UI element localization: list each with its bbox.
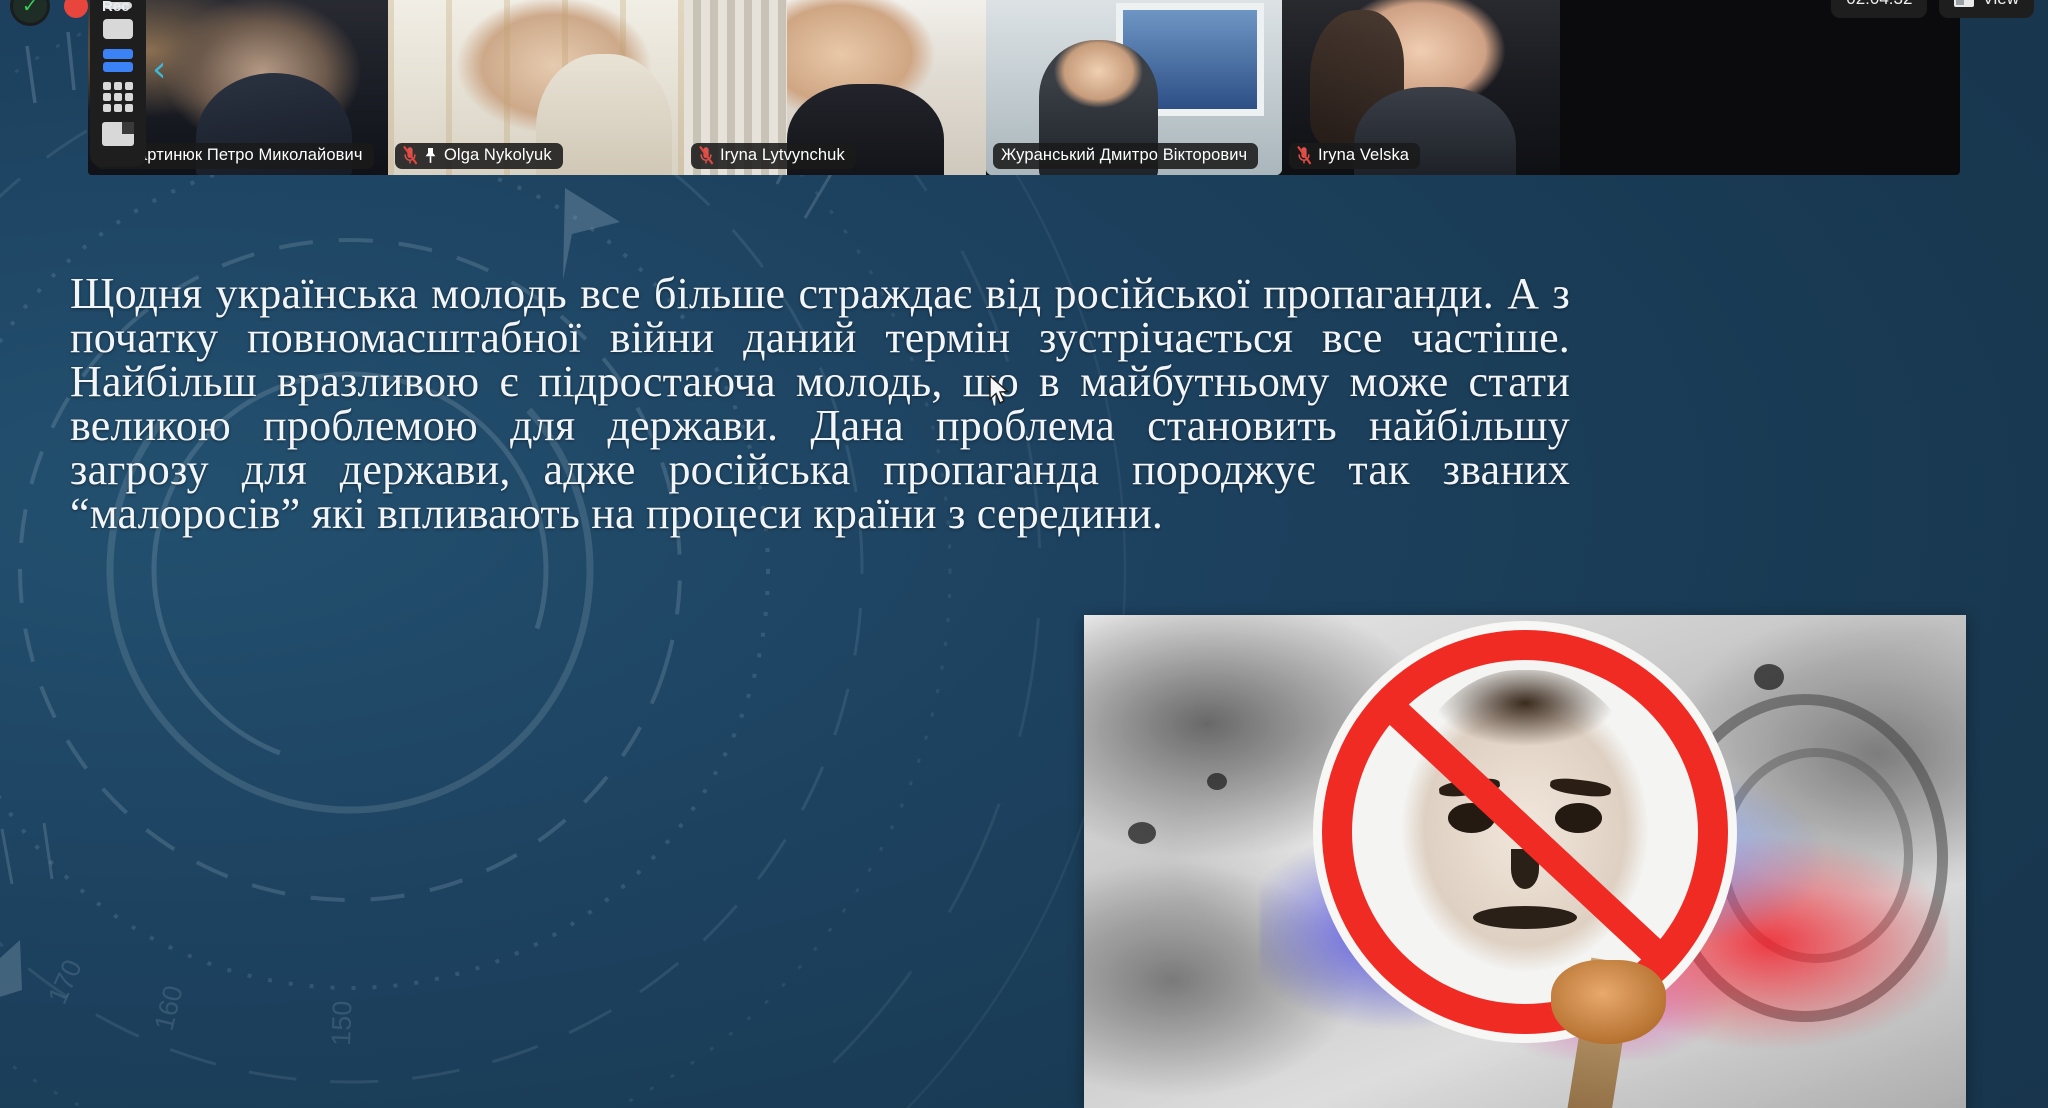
top-right-controls: 02:04:32 View — [1831, 0, 2034, 18]
pin-icon — [424, 147, 437, 164]
participant-name-label: Журанський Дмитро Вікторович — [1001, 146, 1247, 165]
participant-name-badge: Журанський Дмитро Вікторович — [993, 143, 1258, 169]
view-button[interactable]: View — [1939, 0, 2034, 18]
meeting-timer: 02:04:32 — [1831, 0, 1927, 18]
slide-paragraph: Щодня українська молодь все більше страж… — [70, 272, 1570, 536]
participant-name-badge: Olga Nykolyuk — [395, 143, 563, 169]
slide-image-protest-poster — [1084, 615, 1966, 1108]
participant-name-badge: Iryna Velska — [1289, 143, 1420, 169]
hand-holding-poster — [1551, 960, 1666, 1044]
svg-text:160: 160 — [149, 982, 189, 1033]
mic-muted-icon — [1297, 146, 1311, 165]
collapse-strip-chevron-icon[interactable]: ‹ — [152, 52, 166, 88]
prohibition-sign — [1322, 630, 1728, 1034]
participant-tile[interactable]: Журанський Дмитро Вікторович — [986, 0, 1282, 175]
participant-name-label: Iryna Velska — [1318, 146, 1409, 165]
participant-name-label: Olga Nykolyuk — [444, 146, 552, 165]
wall-blob — [1128, 822, 1156, 844]
participant-name-label: Мартинюк Петро Миколайович — [124, 146, 363, 165]
participant-name-label: Iryna Lytvynchuk — [720, 146, 845, 165]
portrait-brow-right — [1549, 776, 1611, 798]
portrait-mouth — [1473, 906, 1578, 929]
mic-muted-icon — [403, 146, 417, 165]
check-glyph: ✓ — [22, 0, 38, 16]
participant-tile[interactable]: Olga Nykolyuk — [388, 0, 684, 175]
participant-name-badge: Iryna Lytvynchuk — [691, 143, 856, 169]
mouse-cursor — [988, 375, 1010, 407]
record-dot-icon[interactable] — [64, 0, 88, 18]
status-indicator-cluster: ✓ Rec — [10, 0, 130, 26]
layout-option-sidebar-view[interactable] — [103, 122, 133, 146]
svg-text:150: 150 — [326, 1000, 358, 1046]
layout-option-split-view[interactable] — [103, 49, 133, 72]
portrait-eye-right — [1555, 803, 1602, 833]
svg-text:170: 170 — [42, 955, 88, 1008]
timer-value: 02:04:32 — [1846, 0, 1912, 9]
recording-label: Rec — [102, 0, 130, 15]
slide-body-text: Щодня українська молодь все більше страж… — [70, 272, 1570, 536]
shield-check-icon[interactable]: ✓ — [10, 0, 50, 26]
view-button-label: View — [1982, 0, 2019, 9]
layout-option-grid-view[interactable] — [103, 82, 133, 112]
grid-view-icon — [1954, 0, 1974, 7]
participant-tile[interactable]: Iryna Lytvynchuk — [684, 0, 986, 175]
participant-video-strip: Мартинюк Петро МиколайовичOlga NykolyukI… — [88, 0, 1960, 175]
mic-muted-icon — [699, 146, 713, 165]
participant-tile[interactable]: Iryna Velska — [1282, 0, 1560, 175]
